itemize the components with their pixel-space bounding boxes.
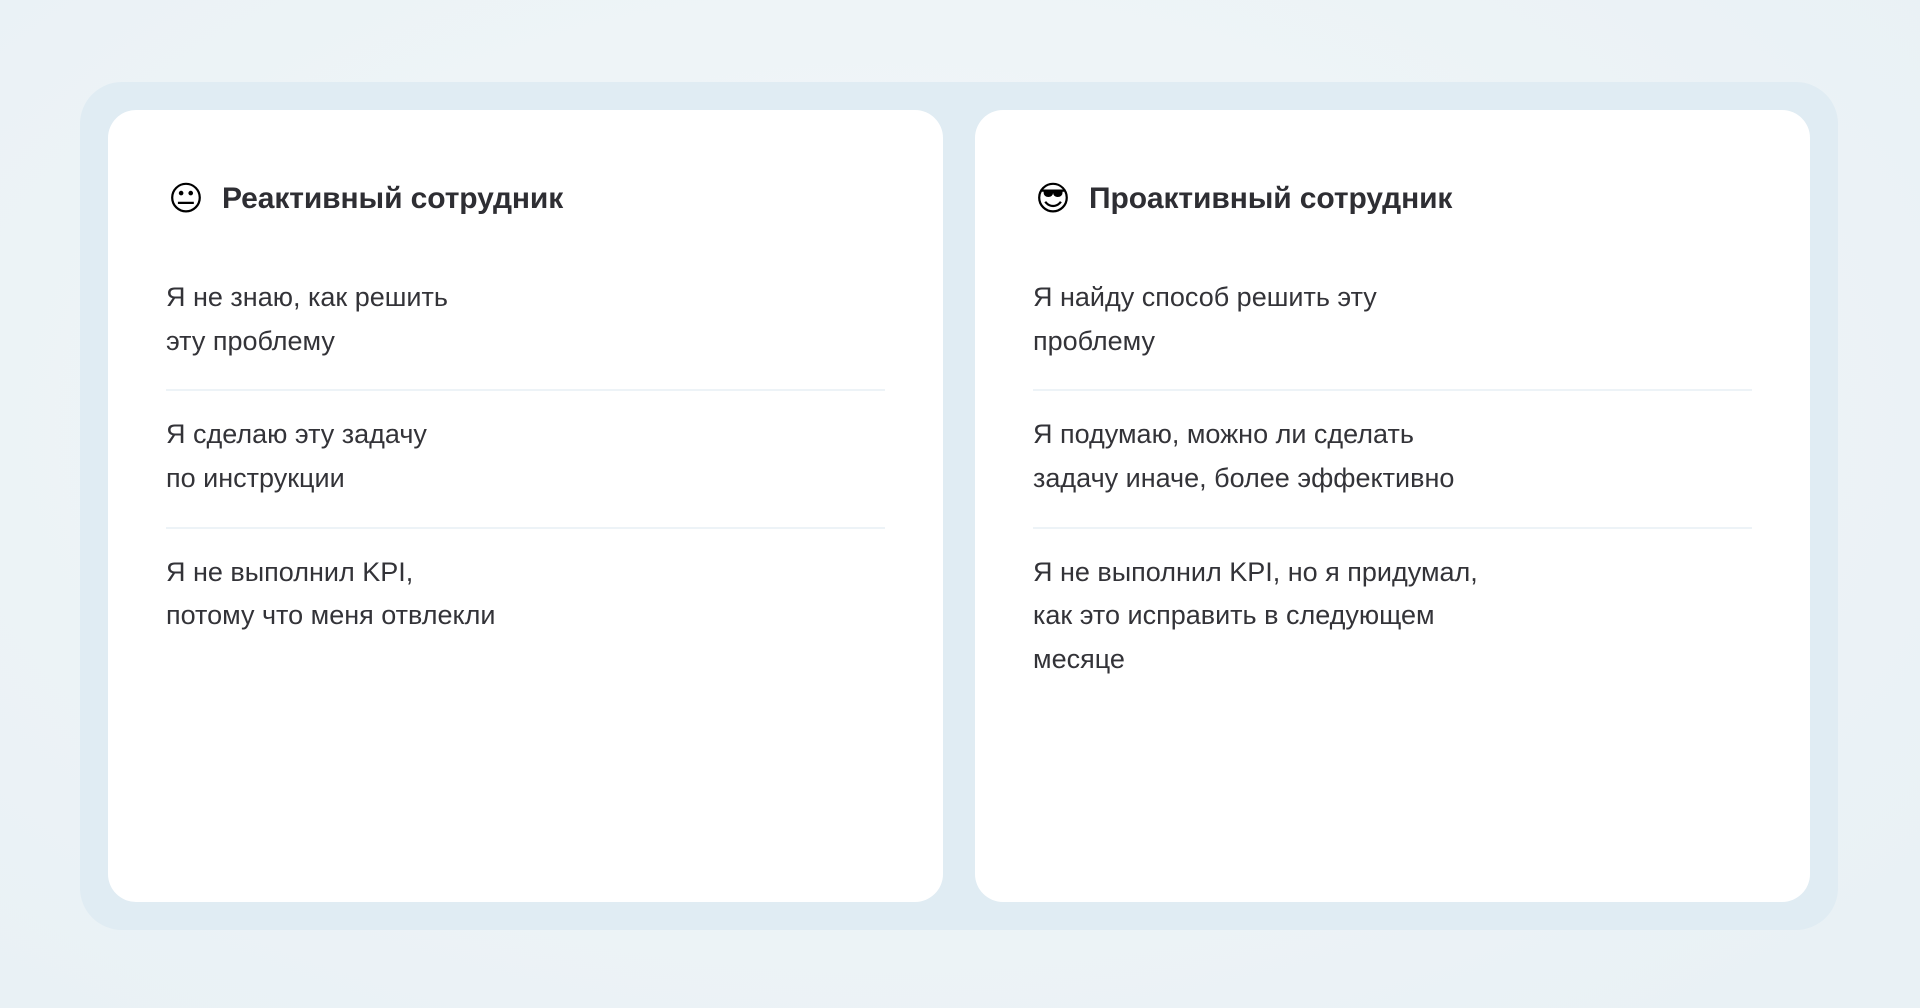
card-proactive-employee: 😎 Проактивный сотрудник Я найду способ р… — [975, 110, 1810, 902]
list-item: Я не выполнил KPI, но я придумал, как эт… — [1033, 529, 1752, 708]
card-header: 😎 Проактивный сотрудник — [1033, 156, 1752, 242]
card-header: 😐 Реактивный сотрудник — [166, 156, 885, 242]
comparison-tray: 😐 Реактивный сотрудник Я не знаю, как ре… — [80, 82, 1838, 930]
statement-list: Я не знаю, как решить эту проблему Я сде… — [166, 276, 885, 664]
list-item: Я подумаю, можно ли сделать задачу иначе… — [1033, 391, 1752, 526]
list-item: Я не выполнил KPI, потому что меня отвле… — [166, 529, 885, 664]
list-item: Я сделаю эту задачу по инструкции — [166, 391, 885, 526]
comparison-infographic: 😐 Реактивный сотрудник Я не знаю, как ре… — [0, 0, 1920, 1008]
list-item: Я найду способ решить эту проблему — [1033, 276, 1752, 389]
list-item: Я не знаю, как решить эту проблему — [166, 276, 885, 389]
statement-list: Я найду способ решить эту проблему Я под… — [1033, 276, 1752, 708]
smiling-face-with-sunglasses-emoji: 😎 — [1033, 179, 1073, 219]
card-title: Проактивный сотрудник — [1089, 181, 1452, 217]
card-title: Реактивный сотрудник — [222, 181, 563, 217]
card-reactive-employee: 😐 Реактивный сотрудник Я не знаю, как ре… — [108, 110, 943, 902]
neutral-face-emoji: 😐 — [166, 179, 206, 219]
